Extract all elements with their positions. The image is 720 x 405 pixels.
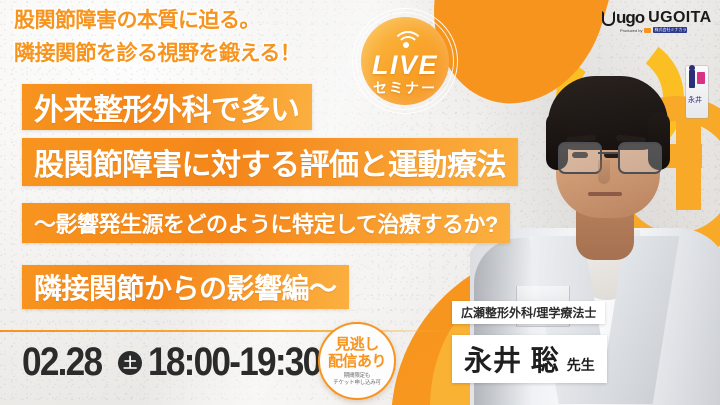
section-divider	[0, 330, 452, 332]
ugo-go-text: ugo	[616, 8, 644, 28]
title-bar-3: 〜影響発生源をどのように特定して治療するか?	[22, 203, 510, 243]
title-bar-2: 股関節障害に対する評価と運動療法	[22, 138, 518, 186]
title-bar-1: 外来整形外科で多い	[22, 84, 312, 130]
producer-mark-icon	[644, 28, 651, 33]
ugo-mark-icon: ugo	[602, 8, 644, 28]
broadcast-icon	[394, 30, 418, 50]
produced-by-line: Produced by 株式会社ミナカラ	[620, 27, 687, 33]
live-seminar-badge: LIVE セミナー	[352, 8, 458, 114]
seal-note-2: チケット申し込み可	[333, 380, 381, 387]
seal-note: 期間限定も チケット申し込み可	[333, 373, 381, 387]
live-sublabel: セミナー	[352, 78, 458, 98]
seal-text: 見逃し 配信あり	[328, 336, 386, 370]
seminar-banner: 永井 股関節障害の本質に迫る。 隣接関節を診る視野を鍛える！ LIVE セミナー…	[0, 0, 720, 405]
coat-name-badge: 永井	[686, 66, 708, 118]
seal-line-1: 見逃し	[328, 336, 386, 353]
ugo-u-glyph	[602, 11, 615, 26]
schedule-row: 02.28 土 18:00-19:30	[22, 340, 344, 385]
produced-by-label: Produced by	[620, 28, 642, 33]
speaker-name-plate: 永井 聡 先生	[452, 335, 607, 383]
event-date: 02.28	[22, 340, 101, 385]
speaker-honorific: 先生	[567, 355, 595, 375]
seal-note-1: 期間限定も	[333, 373, 381, 380]
replay-available-seal: 見逃し 配信あり 期間限定も チケット申し込み可	[318, 322, 396, 400]
seal-line-2: 配信あり	[328, 353, 386, 370]
title-bar-4: 隣接関節からの影響編〜	[22, 265, 349, 309]
nose	[598, 160, 610, 184]
headline-line-1: 股関節障害の本質に迫る。	[14, 4, 394, 37]
weekday-badge: 土	[118, 351, 142, 375]
lens-right	[618, 142, 662, 174]
live-label: LIVE	[352, 50, 458, 81]
speaker-name: 永井 聡	[464, 339, 560, 379]
lens-left	[558, 142, 602, 174]
glasses-bridge	[598, 152, 618, 154]
badge-i-icon	[689, 70, 695, 88]
speaker-affiliation: 広瀬整形外科/理学療法士	[452, 301, 605, 324]
headline-line-2: 隣接関節を診る視野を鍛える！	[14, 37, 394, 70]
ugoita-wordmark: UGOITA	[648, 9, 711, 27]
ugoita-logo[interactable]: ugo UGOITA Produced by 株式会社ミナカラ	[602, 8, 708, 36]
mouth	[588, 192, 622, 196]
event-time: 18:00-19:30	[148, 340, 320, 385]
headline: 股関節障害の本質に迫る。 隣接関節を診る視野を鍛える！	[14, 4, 394, 70]
producer-name: 株式会社ミナカラ	[653, 27, 687, 33]
badge-pink-icon	[697, 72, 705, 84]
badge-name-text: 永井	[688, 96, 706, 114]
